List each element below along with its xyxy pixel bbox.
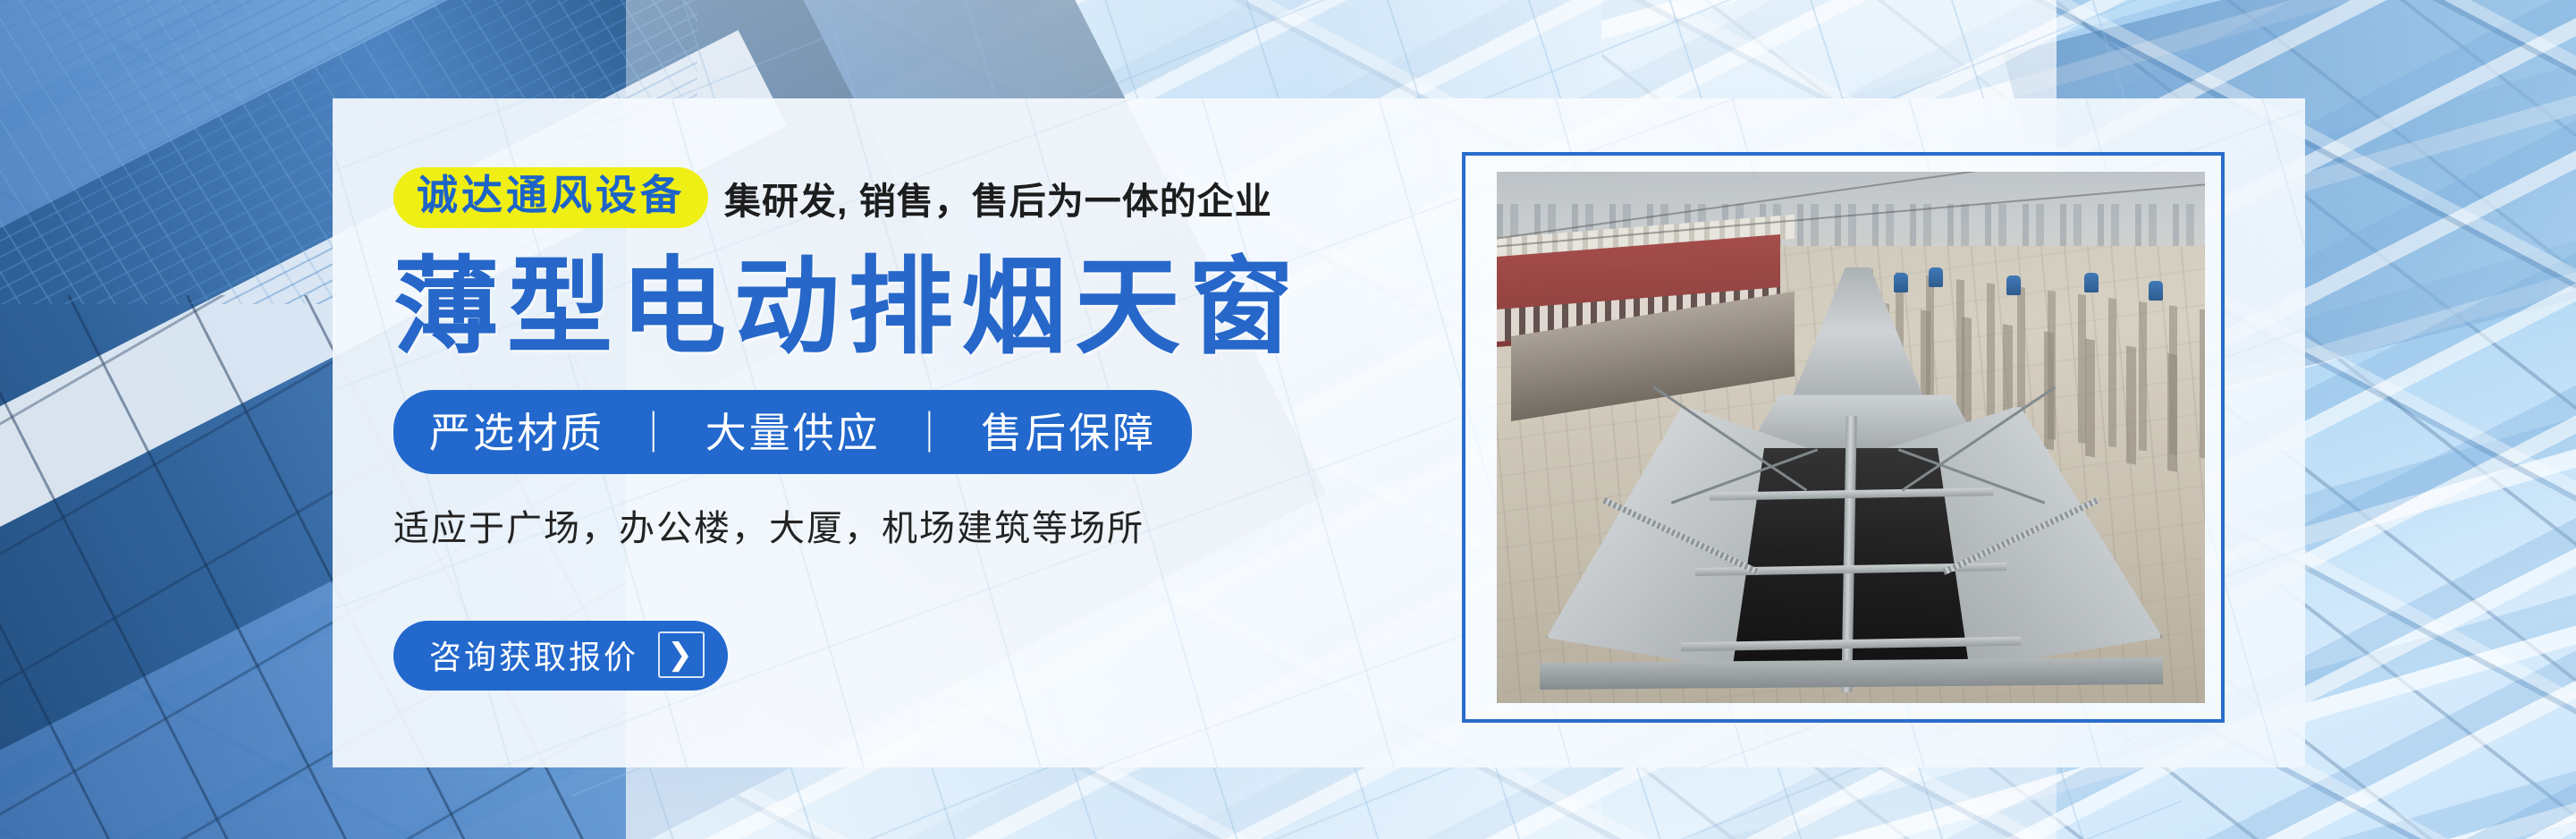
feature-separator-2: ｜ [894, 410, 967, 456]
feature-item-1: 严选材质 [429, 410, 604, 456]
product-photo [1497, 172, 2205, 703]
feature-item-2: 大量供应 [705, 410, 881, 456]
brand-name-pill: 诚达通风设备 [393, 167, 708, 228]
promo-banner: 诚达通风设备 集研发, 销售，售后为一体的企业 薄型电动排烟天窗 严选材质 ｜ … [0, 0, 2576, 839]
cta-wrapper: 咨询获取报价 ❯ [393, 621, 1413, 691]
request-quote-label: 咨询获取报价 [429, 631, 638, 678]
request-quote-button[interactable]: 咨询获取报价 ❯ [393, 621, 728, 691]
photo-tone-overlay [1497, 172, 2205, 703]
feature-highlights-pill: 严选材质 ｜ 大量供应 ｜ 售后保障 [393, 390, 1192, 474]
page-title: 薄型电动排烟天窗 [393, 249, 1413, 367]
chevron-right-icon: ❯ [658, 631, 705, 678]
application-scenarios-text: 适应于广场，办公楼，大厦，机场建筑等场所 [393, 499, 1413, 551]
tagline-text: 集研发, 销售，售后为一体的企业 [724, 171, 1272, 225]
feature-item-3: 售后保障 [981, 410, 1156, 456]
feature-separator-1: ｜ [619, 410, 691, 456]
text-column: 诚达通风设备 集研发, 销售，售后为一体的企业 薄型电动排烟天窗 严选材质 ｜ … [393, 134, 1413, 691]
product-photo-frame [1462, 152, 2225, 723]
tagline-row: 诚达通风设备 集研发, 销售，售后为一体的企业 [393, 159, 1413, 236]
